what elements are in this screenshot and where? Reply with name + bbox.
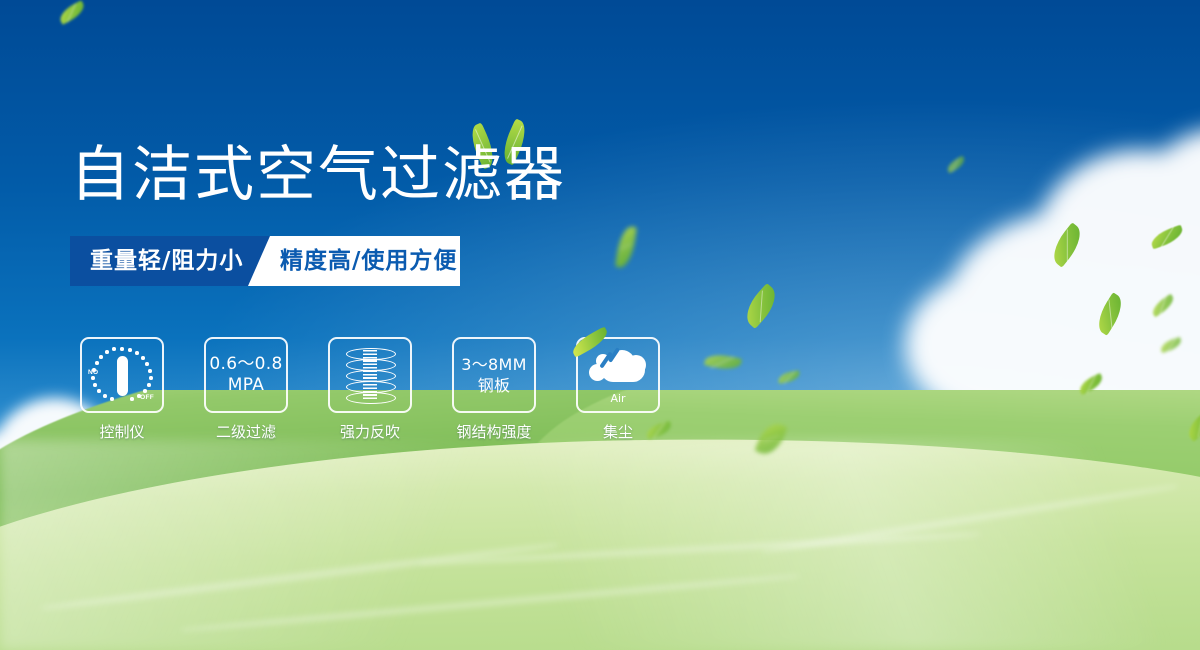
pressure-value: 0.6～0.8 xyxy=(209,354,282,375)
steel-material: 钢板 xyxy=(461,375,526,396)
feature-caption: 二级过滤 xyxy=(204,423,288,441)
coil-blowback-icon xyxy=(346,346,394,404)
feature-caption: 控制仪 xyxy=(80,423,164,441)
steel-thickness: 3～8MM xyxy=(461,354,526,375)
dial-label-off: OFF xyxy=(140,394,154,401)
subtitle-right-text: 精度高/使用方便 xyxy=(280,236,457,286)
dial-pointer xyxy=(117,356,128,396)
control-dial-icon: NO OFF xyxy=(89,345,155,405)
feature-item-two-stage-filter[interactable]: 0.6～0.8 MPA 二级过滤 xyxy=(204,337,288,441)
feature-item-strong-blowback[interactable]: 强力反吹 xyxy=(328,337,412,441)
subtitle-left-text: 重量轻/阻力小 xyxy=(90,236,243,286)
feature-icon-box: Air xyxy=(576,337,660,413)
feature-caption: 集尘 xyxy=(576,423,660,441)
air-cloud-icon: Air xyxy=(585,346,651,404)
feature-item-control-dial[interactable]: NO OFF 控制仪 xyxy=(80,337,164,441)
page-title: 自洁式空气过滤器 xyxy=(70,140,566,210)
feature-caption: 强力反吹 xyxy=(328,423,412,441)
subtitle-badge-bar: 重量轻/阻力小 精度高/使用方便 xyxy=(70,236,460,286)
feature-icon-box: 0.6～0.8 MPA xyxy=(204,337,288,413)
feature-icon-box xyxy=(328,337,412,413)
feature-caption: 钢结构强度 xyxy=(438,423,550,441)
pressure-text-icon: 0.6～0.8 MPA xyxy=(209,354,282,396)
product-hero-banner: 自洁式空气过滤器 重量轻/阻力小 精度高/使用方便 xyxy=(0,0,1200,650)
feature-icon-box: NO OFF xyxy=(80,337,164,413)
feature-item-steel-strength[interactable]: 3～8MM 钢板 钢结构强度 xyxy=(452,337,536,441)
steel-plate-text-icon: 3～8MM 钢板 xyxy=(461,354,526,396)
feature-item-dust-collection[interactable]: Air 集尘 xyxy=(576,337,660,441)
dial-label-no: NO xyxy=(88,369,98,376)
grass-highlight xyxy=(0,440,1200,650)
pressure-unit: MPA xyxy=(209,375,282,396)
air-label: Air xyxy=(585,392,651,405)
feature-list: NO OFF 控制仪 0.6～0.8 MPA 二级过滤 xyxy=(80,337,660,441)
feature-icon-box: 3～8MM 钢板 xyxy=(452,337,536,413)
